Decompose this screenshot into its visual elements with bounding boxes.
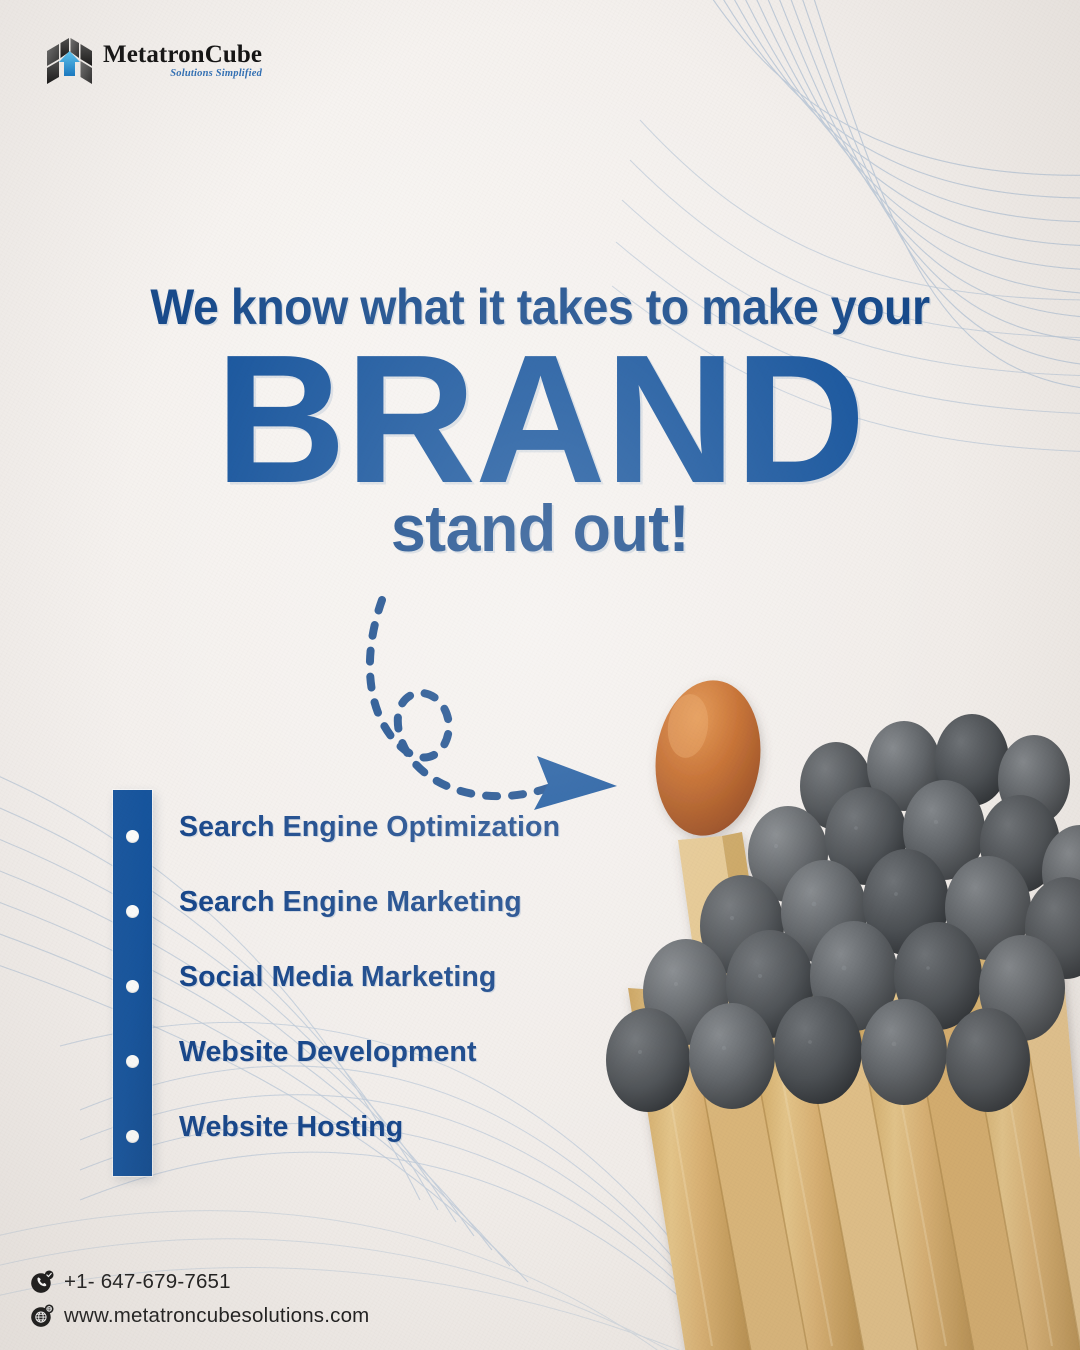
logo-tagline: Solutions Simplified (103, 69, 262, 80)
poster-canvas: MetatronCube Solutions Simplified We kno… (0, 0, 1080, 1350)
website-row[interactable]: www.metatroncubesolutions.com (30, 1303, 369, 1328)
service-label: Social Media Marketing (179, 961, 496, 994)
website-url: www.metatroncubesolutions.com (64, 1304, 369, 1328)
cube-arrow-logo-icon (44, 36, 94, 86)
phone-row[interactable]: +1- 647-679-7651 (30, 1269, 369, 1294)
headline-brand-word: BRAND (5, 338, 1074, 499)
service-label: Website Development (179, 1036, 477, 1069)
phone-badge-icon (30, 1269, 55, 1294)
bullet-dot-icon (126, 1130, 139, 1143)
footer-contact: +1- 647-679-7651 www.metatroncubesolutio… (30, 1260, 369, 1328)
logo-name: MetatronCube (103, 42, 262, 67)
bullet-dot-icon (126, 1055, 139, 1068)
service-label: Search Engine Marketing (179, 886, 522, 919)
bullet-dot-icon (126, 830, 139, 843)
brand-logo[interactable]: MetatronCube Solutions Simplified (44, 36, 262, 86)
headline-line-3: stand out! (27, 495, 1053, 561)
bullet-dot-icon (126, 980, 139, 993)
bullet-dot-icon (126, 905, 139, 918)
globe-badge-icon (30, 1303, 55, 1328)
matchsticks-photo (536, 640, 1080, 1350)
logo-wordmark: MetatronCube Solutions Simplified (103, 42, 262, 80)
headline-block: We know what it takes to make your BRAND… (0, 282, 1080, 561)
phone-number: +1- 647-679-7651 (64, 1270, 231, 1294)
service-label: Search Engine Optimization (179, 811, 560, 844)
service-label: Website Hosting (179, 1111, 403, 1144)
